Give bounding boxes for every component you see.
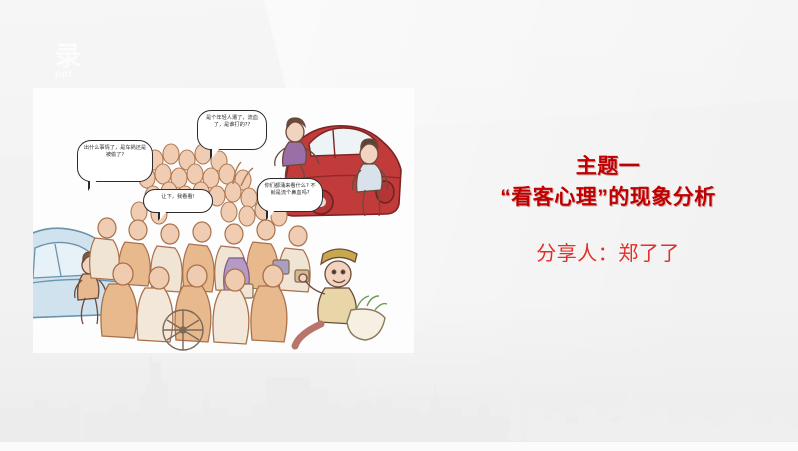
speech-bubble-middle: 让下，我看看! (143, 189, 213, 213)
slide-title-sub: “看客心理”的现象分析 (432, 182, 784, 214)
city-skyline-decoration (0, 351, 798, 443)
watermark: 录 ppt (55, 43, 125, 83)
watermark-subtext: ppt (55, 69, 125, 80)
presenter-line: 分享人：郑了了 (432, 240, 784, 268)
slide-canvas: 录 ppt (0, 0, 798, 451)
speech-bubble-left: 出什么事情了，是车祸还是被偷了? (77, 140, 153, 182)
watermark-glyph: 录 (55, 41, 82, 71)
title-block: 主题一 “看客心理”的现象分析 分享人：郑了了 (432, 152, 784, 268)
speech-bubble-right: 你们都涌来看什么? 不就是流个鼻血吗? (257, 178, 323, 212)
crowd-illustration: 出什么事情了，是车祸还是被偷了? 是个年轻人遭了，流血了，是谁打的?? 让下，我… (33, 88, 414, 353)
speech-bubble-top: 是个年轻人遭了，流血了，是谁打的?? (197, 110, 267, 150)
slide-title-main: 主题一 (432, 152, 784, 182)
bottom-strip (0, 441, 798, 451)
